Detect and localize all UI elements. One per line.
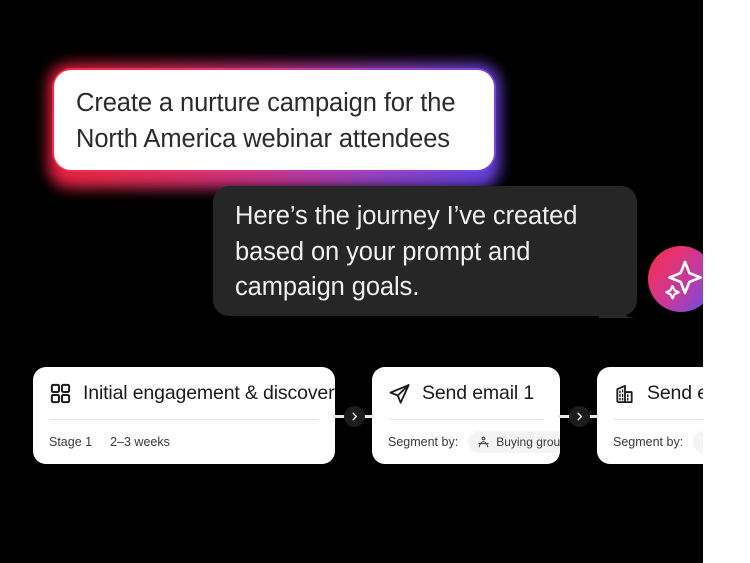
card-header: Send email 1 xyxy=(388,367,544,419)
chevron-right-icon[interactable] xyxy=(569,406,590,427)
prompt-bubble-surface: Create a nurture campaign for the North … xyxy=(54,70,494,170)
segment-pill-label: Buying group xyxy=(496,435,560,449)
connector-arrow[interactable] xyxy=(333,407,374,425)
response-bubble-surface: Here’s the journey I’ve created based on… xyxy=(213,186,637,316)
stage-label: Stage 1 xyxy=(49,435,92,449)
chevron-right-icon[interactable] xyxy=(344,406,365,427)
segment-by-label: Segment by: xyxy=(388,435,458,449)
right-panel-mask xyxy=(703,0,750,563)
segment-pill[interactable]: Buying group xyxy=(468,431,560,453)
grid-squares-icon xyxy=(49,382,72,405)
card-title: Send email 1 xyxy=(422,382,534,405)
assistant-response-bubble: Here’s the journey I’ve created based on… xyxy=(213,186,637,316)
response-text: Here’s the journey I’ve created based on… xyxy=(235,199,611,306)
segment-by-label: Segment by: xyxy=(613,435,683,449)
building-icon xyxy=(613,382,636,405)
connector-arrow[interactable] xyxy=(558,407,599,425)
journey-builder-scene: Create a nurture campaign for the North … xyxy=(0,0,750,563)
paper-plane-icon xyxy=(388,382,411,405)
journey-card-email-1[interactable]: Send email 1 Segment by: Buying group xyxy=(372,367,560,464)
prompt-text: Create a nurture campaign for the North … xyxy=(76,85,472,157)
journey-card-stage[interactable]: Initial engagement & discovery Stage 1 2… xyxy=(33,367,335,464)
card-title: Initial engagement & discovery xyxy=(83,382,335,405)
people-group-icon xyxy=(477,436,490,449)
user-prompt-bubble: Create a nurture campaign for the North … xyxy=(54,70,494,170)
card-footer: Stage 1 2–3 weeks xyxy=(49,420,319,464)
card-header: Initial engagement & discovery xyxy=(49,367,319,419)
duration-label: 2–3 weeks xyxy=(110,435,170,449)
card-footer: Segment by: Buying group xyxy=(388,420,544,464)
